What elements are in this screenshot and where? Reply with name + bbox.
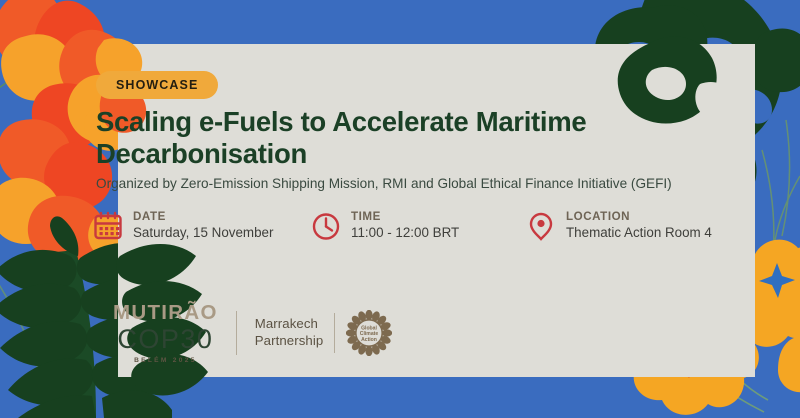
event-date-text: DATE Saturday, 15 November	[133, 209, 273, 243]
event-time-block: TIME 11:00 - 12:00 BRT	[311, 209, 526, 243]
event-date-value: Saturday, 15 November	[133, 224, 273, 243]
showcase-badge-wrapper: SHOWCASE	[96, 71, 218, 99]
event-location-block: LOCATION Thematic Action Room 4	[526, 209, 712, 243]
map-pin-icon	[526, 209, 556, 243]
event-title-line-1: Scaling e-Fuels to Accelerate Maritime	[96, 106, 696, 138]
showcase-badge: SHOWCASE	[96, 71, 218, 99]
event-title: Scaling e-Fuels to Accelerate Maritime D…	[96, 106, 696, 170]
belem-2025-text: BELÉM 2025	[134, 357, 197, 364]
event-location-value: Thematic Action Room 4	[566, 224, 712, 243]
global-climate-action-seal-icon: Global Climate Action	[346, 310, 392, 356]
event-time-label: TIME	[351, 210, 459, 224]
event-time-value: 11:00 - 12:00 BRT	[351, 224, 459, 243]
marrakech-partnership-logo: Marrakech Partnership	[255, 310, 393, 356]
event-date-block: DATE Saturday, 15 November	[93, 209, 311, 243]
event-location-label: LOCATION	[566, 210, 712, 224]
event-title-line-2: Decarbonisation	[96, 138, 696, 170]
seal-divider	[334, 313, 335, 353]
mutirao-cop30-logo: MUTIRÃO COP30 BELÉM 2025	[113, 303, 218, 364]
seal-line-3: Action	[361, 337, 377, 343]
logo-row: MUTIRÃO COP30 BELÉM 2025 Marrakech Partn…	[113, 303, 392, 364]
event-location-text: LOCATION Thematic Action Room 4	[566, 209, 712, 243]
marrakech-line-1: Marrakech	[255, 316, 324, 333]
event-banner: SHOWCASE Scaling e-Fuels to Accelerate M…	[0, 0, 800, 418]
marrakech-line-2: Partnership	[255, 333, 324, 350]
event-time-text: TIME 11:00 - 12:00 BRT	[351, 209, 459, 243]
event-organizer: Organized by Zero-Emission Shipping Miss…	[96, 176, 756, 191]
mutirao-wordmark: MUTIRÃO	[113, 303, 218, 324]
cop30-wordmark: COP30	[117, 325, 213, 354]
calendar-icon	[93, 209, 123, 243]
marrakech-partnership-text: Marrakech Partnership	[255, 316, 324, 350]
event-details-row: DATE Saturday, 15 November TIME 11:00 - …	[93, 209, 763, 259]
logo-divider	[236, 311, 237, 355]
event-date-label: DATE	[133, 210, 273, 224]
clock-icon	[311, 209, 341, 243]
